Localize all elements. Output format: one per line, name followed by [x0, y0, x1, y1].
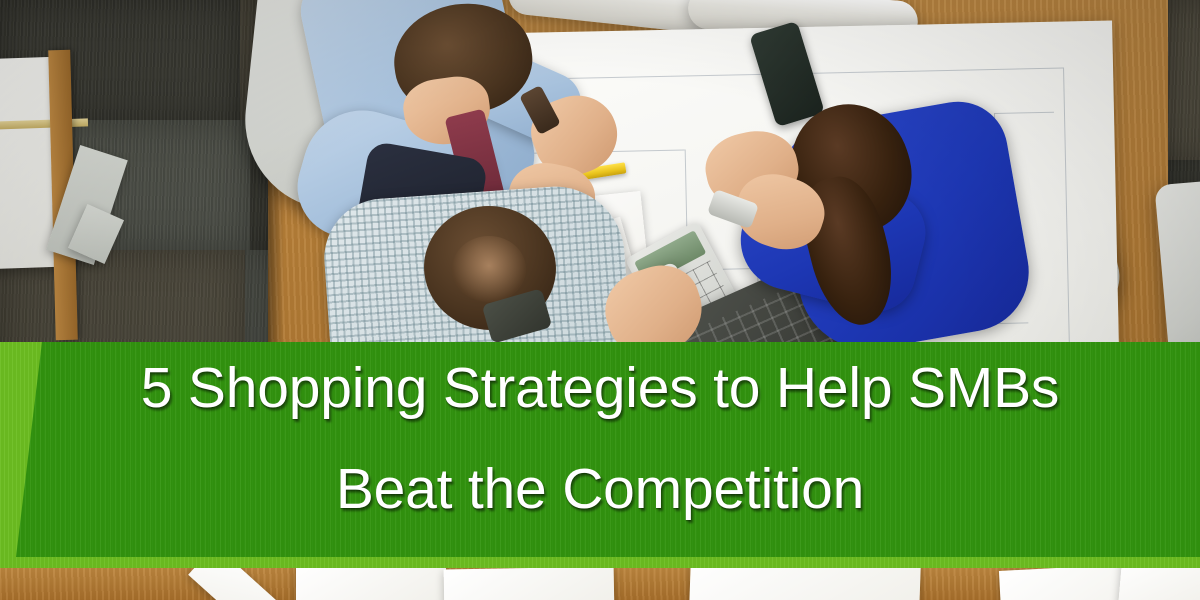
table-bottom-strip — [0, 566, 1200, 600]
green-title-band — [0, 342, 1200, 568]
person-check-shirt-crown — [452, 236, 526, 302]
green-inner-panel — [0, 342, 1200, 557]
document-page — [296, 564, 446, 600]
document-page — [444, 567, 615, 600]
inner-panel-texture — [0, 342, 1200, 557]
promo-banner-image: 5 Shopping Strategies to Help SMBs Beat … — [0, 0, 1200, 600]
